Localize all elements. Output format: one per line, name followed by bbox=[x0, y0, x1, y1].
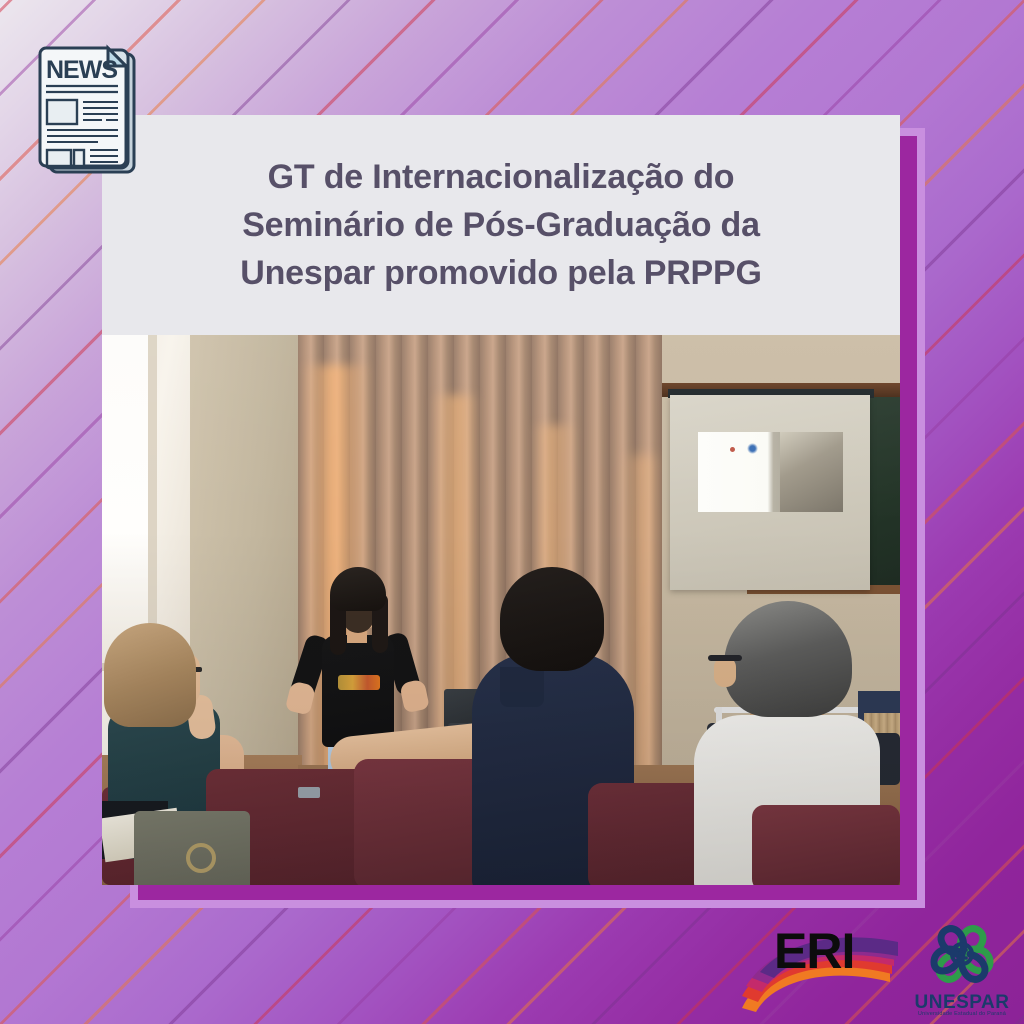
svg-text:NEWS: NEWS bbox=[46, 56, 117, 84]
eri-logo-text: ERI bbox=[774, 922, 854, 980]
logo-group: ERI bbox=[740, 918, 1012, 1018]
photo-overlay-shading bbox=[102, 335, 900, 885]
event-photo bbox=[102, 335, 900, 885]
unespar-logo-subtitle: Universidade Estadual do Paraná bbox=[912, 1011, 1012, 1017]
news-icon: NEWS bbox=[36, 44, 140, 184]
social-post-canvas: GT de Internacionalização do Seminário d… bbox=[0, 0, 1024, 1024]
title-line-2: Seminário de Pós-Graduação da bbox=[242, 201, 760, 249]
title-line-3: Unespar promovido pela PRPPG bbox=[240, 249, 762, 297]
post-card: GT de Internacionalização do Seminário d… bbox=[102, 115, 900, 885]
title-line-1: GT de Internacionalização do bbox=[268, 153, 735, 201]
page-title: GT de Internacionalização do Seminário d… bbox=[102, 115, 900, 335]
eri-logo: ERI bbox=[740, 922, 900, 1014]
